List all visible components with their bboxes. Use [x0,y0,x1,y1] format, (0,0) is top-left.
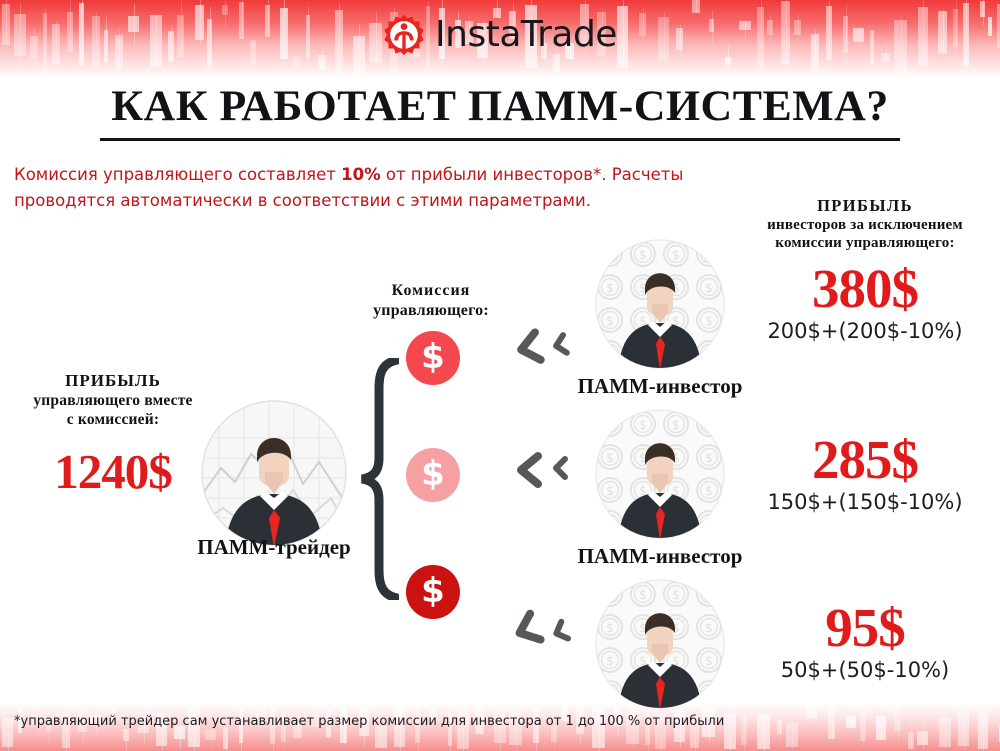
infographic-page: InstaTrade КАК РАБОТАЕТ ПАММ-СИСТЕМА? Ко… [0,0,1000,751]
chevron-left-icon [512,327,547,368]
chevron-left-icon-small [549,331,572,358]
investor-formula-1: 200$+(200$-10%) [730,319,1000,343]
investor-amount-block-1: 380$ 200$+(200$-10%) [730,261,1000,343]
commission-coin-2: $ [406,448,460,502]
page-title: КАК РАБОТАЕТ ПАММ-СИСТЕМА? [0,82,1000,131]
investors-heading-line2: инвесторов за исключением [730,216,1000,234]
investor-amount-2: 285$ [730,432,1000,487]
trader-label: ПАММ-трейдер [168,535,380,560]
dollar-coin-icon: $ [421,340,445,374]
chevron-left-icon-small [547,618,573,647]
investor-label-1: ПАММ-инвестор [530,374,790,399]
chevron-left-icon [507,608,546,652]
commission-coin-1: $ [406,331,460,385]
investor-label-2: ПАММ-инвестор [530,544,790,569]
investor-avatar-icon: $ [594,238,726,370]
trader-heading: ПРИБЫЛЬ управляющего вместе с комиссией: [8,371,218,430]
trader-avatar-icon [199,398,349,548]
investor-avatar-icon [594,408,726,540]
intro-paragraph: Комиссия управляющего составляет 10% от … [14,162,694,213]
investor-amount-3: 95$ [730,600,1000,655]
gear-person-icon [383,14,425,56]
investors-heading-line3: комиссии управляющего: [730,234,1000,252]
curly-brace-icon [345,358,399,600]
commission-heading-line1: Комиссия [363,281,499,301]
investor-formula-3: 50$+(50$-10%) [730,658,1000,682]
commission-coin-3: $ [406,565,460,619]
intro-text-before: Комиссия управляющего составляет [14,165,341,184]
footnote: *управляющий трейдер сам устанавливает р… [14,714,724,729]
intro-highlight: 10% [341,165,381,184]
dollar-coin-icon: $ [421,457,445,491]
investor-amount-block-2: 285$ 150$+(150$-10%) [730,432,1000,514]
investors-heading: ПРИБЫЛЬ инвесторов за исключением комисс… [730,196,1000,253]
trader-heading-line1: ПРИБЫЛЬ [8,371,218,392]
chevron-left-icon [515,452,543,488]
investor-amount-1: 380$ [730,261,1000,316]
investor-amount-block-3: 95$ 50$+(50$-10%) [730,600,1000,682]
title-divider [100,138,900,141]
brand-name: InstaTrade [435,17,617,53]
investor-formula-2: 150$+(150$-10%) [730,490,1000,514]
trader-total-amount: 1240$ [8,447,218,496]
chevron-left-icon-small [551,456,569,480]
investors-heading-line1: ПРИБЫЛЬ [730,196,1000,216]
trader-heading-line3: с комиссией: [8,411,218,430]
commission-heading-line2: управляющего: [363,301,499,321]
trader-heading-line2: управляющего вместе [8,392,218,411]
commission-heading: Комиссия управляющего: [363,281,499,320]
investor-avatar-icon [594,578,726,710]
brand-logo[interactable]: InstaTrade [0,14,1000,56]
dollar-coin-icon: $ [421,574,445,608]
page-title-block: КАК РАБОТАЕТ ПАММ-СИСТЕМА? [0,82,1000,141]
